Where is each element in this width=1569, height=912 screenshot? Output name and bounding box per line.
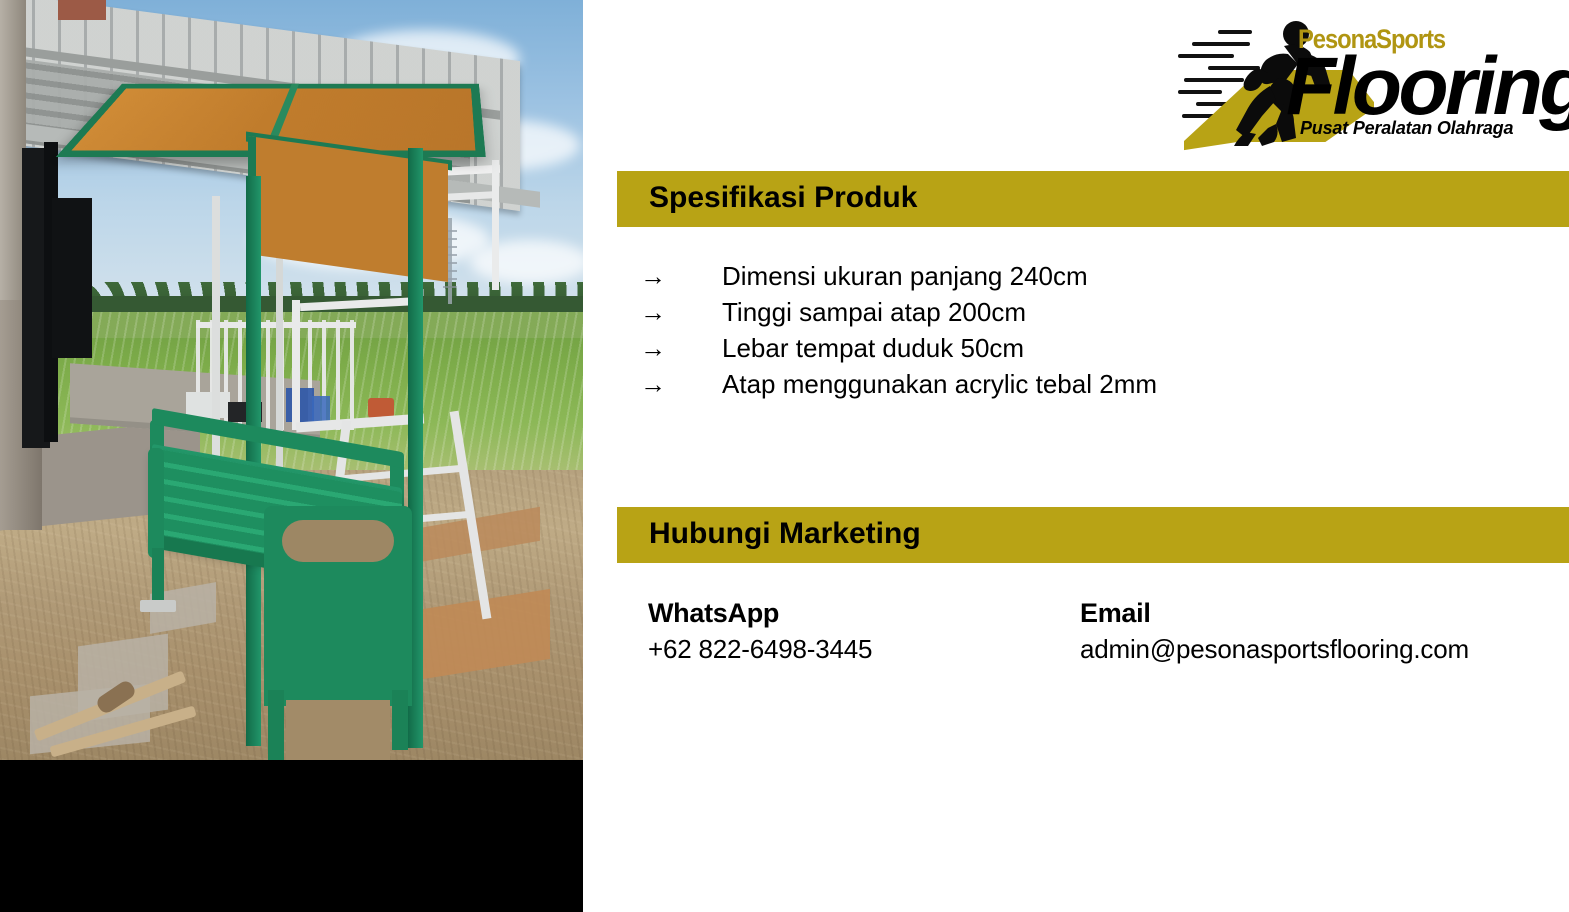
cloud — [470, 240, 583, 284]
brick-wall — [58, 0, 106, 20]
arrow-bullet-icon: → — [640, 330, 722, 366]
spec-item: → Dimensi ukuran panjang 240cm — [640, 258, 1540, 294]
spec-item-text: Lebar tempat duduk 50cm — [722, 330, 1024, 366]
arrow-bullet-icon: → — [640, 294, 722, 330]
contact-details: WhatsApp +62 822-6498-3445 Email admin@p… — [648, 596, 1568, 668]
umpire-chair-back — [292, 300, 300, 430]
bench-end-cutout — [282, 520, 394, 562]
logo-flooring-text: Flooring — [1286, 46, 1569, 128]
spec-heading: Spesifikasi Produk — [649, 181, 917, 215]
blue-container — [286, 388, 314, 422]
company-logo: PesonaSports Flooring Pusat Peralatan Ol… — [1178, 14, 1558, 154]
bench-end-left — [148, 448, 164, 558]
photo-caption-bar: IDR 4.500.000,- KURSI TUNGGU PEMAIN — [0, 760, 583, 912]
spec-item-text: Dimensi ukuran panjang 240cm — [722, 258, 1088, 294]
arrow-bullet-icon: → — [640, 258, 722, 294]
contact-heading: Hubungi Marketing — [649, 517, 921, 551]
blue-container — [312, 396, 330, 422]
email-label: Email — [1080, 596, 1568, 630]
bench-leg — [152, 548, 164, 606]
bench-leg — [392, 690, 408, 750]
bench-foot-plate — [140, 600, 176, 612]
email-column: Email admin@pesonasportsflooring.com — [1080, 596, 1568, 668]
contact-section-header: Hubungi Marketing — [617, 507, 1569, 563]
spec-item: → Atap menggunakan acrylic tebal 2mm — [640, 366, 1540, 402]
spec-list: → Dimensi ukuran panjang 240cm → Tinggi … — [640, 258, 1540, 402]
spec-item: → Tinggi sampai atap 200cm — [640, 294, 1540, 330]
arrow-bullet-icon: → — [640, 366, 722, 402]
whatsapp-label: WhatsApp — [648, 596, 1080, 630]
spec-item-text: Atap menggunakan acrylic tebal 2mm — [722, 366, 1157, 402]
black-panel — [52, 198, 92, 358]
white-box — [186, 392, 230, 418]
product-photo — [0, 0, 583, 760]
email-address[interactable]: admin@pesonasportsflooring.com — [1080, 630, 1568, 668]
whatsapp-column: WhatsApp +62 822-6498-3445 — [648, 596, 1080, 668]
rail-post — [492, 160, 499, 290]
product-photo-panel: IDR 4.500.000,- KURSI TUNGGU PEMAIN — [0, 0, 583, 912]
bench-leg — [268, 690, 284, 760]
product-slide: IDR 4.500.000,- KURSI TUNGGU PEMAIN — [0, 0, 1569, 912]
spec-section-header: Spesifikasi Produk — [617, 171, 1569, 227]
spec-item: → Lebar tempat duduk 50cm — [640, 330, 1540, 366]
transmission-tower — [448, 218, 452, 304]
logo-tagline-text: Pusat Peralatan Olahraga — [1300, 118, 1513, 139]
whatsapp-number[interactable]: +62 822-6498-3445 — [648, 630, 1080, 668]
spec-item-text: Tinggi sampai atap 200cm — [722, 294, 1026, 330]
bench-end-opening — [286, 700, 390, 760]
